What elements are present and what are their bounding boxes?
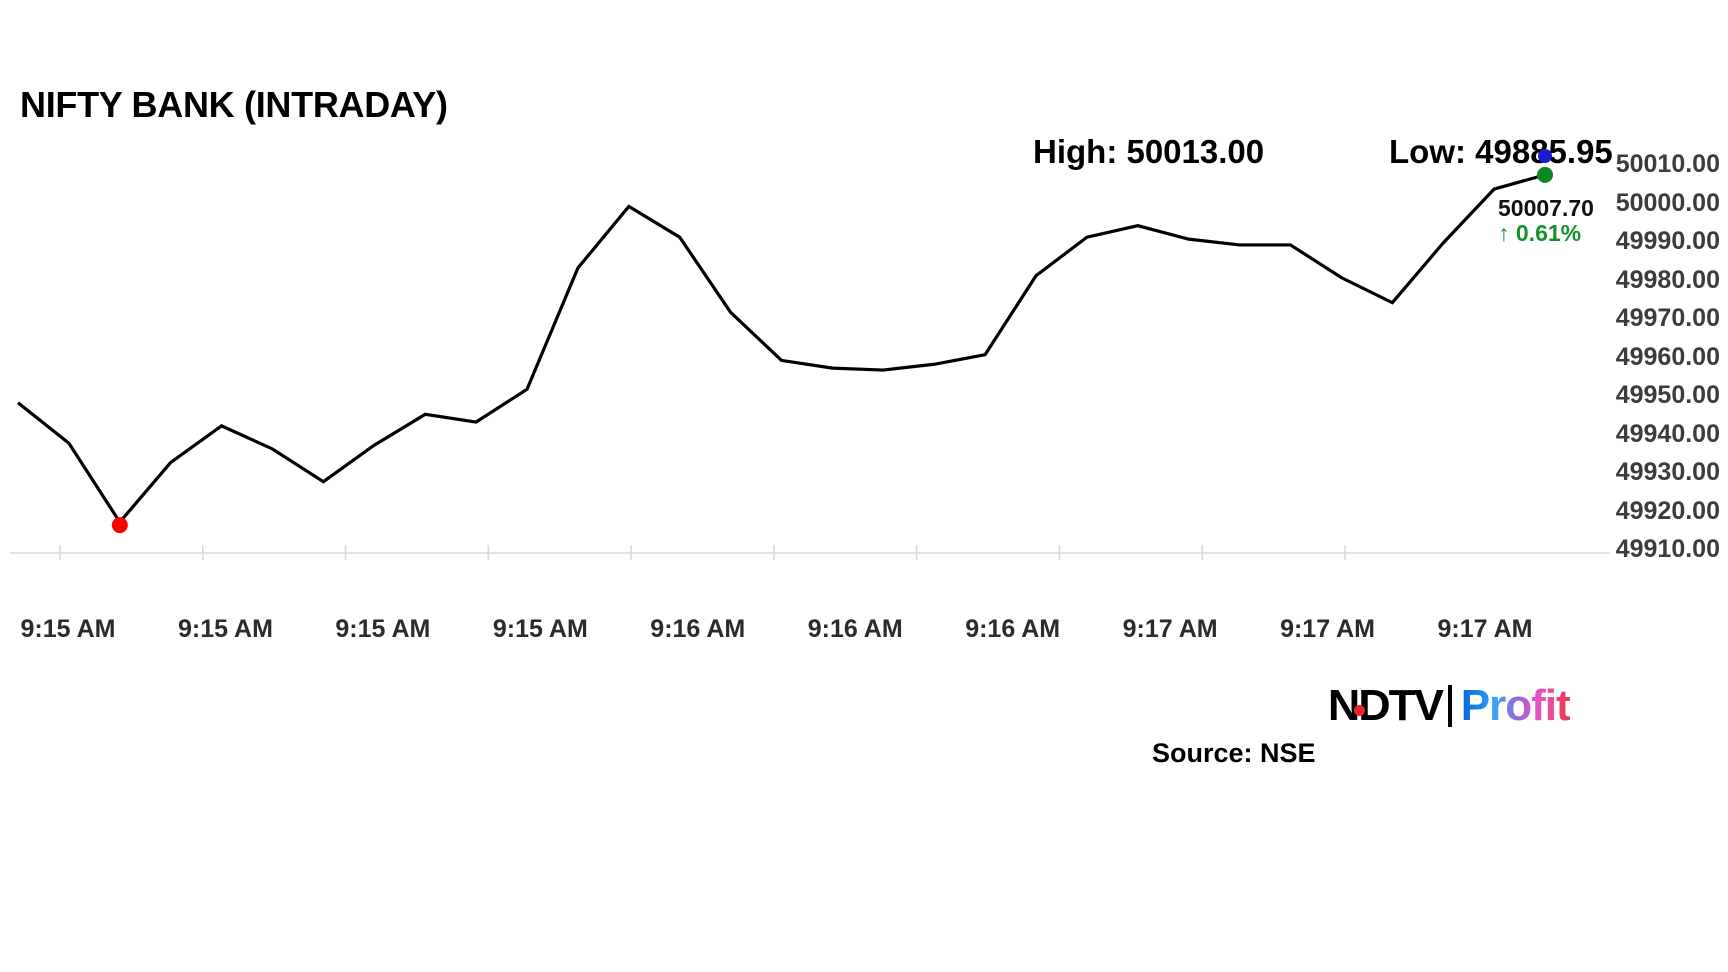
y-axis-tick: 50000.00 xyxy=(1616,189,1720,218)
logo-divider xyxy=(1448,685,1452,727)
y-axis-tick: 49930.00 xyxy=(1616,458,1720,487)
x-axis-tick: 9:17 AM xyxy=(1280,615,1375,644)
last-price-change: ↑ 0.61% xyxy=(1498,221,1594,246)
price-line xyxy=(18,175,1545,522)
x-axis-tick: 9:16 AM xyxy=(650,615,745,644)
chart-screenshot: NIFTY BANK (INTRADAY) High: 50013.00 Low… xyxy=(0,0,1728,972)
x-axis-tick: 9:16 AM xyxy=(808,615,903,644)
x-axis-tick: 9:15 AM xyxy=(493,615,588,644)
low-marker-dot xyxy=(112,517,128,533)
ndtv-profit-logo: NDTV Profit xyxy=(1329,683,1570,729)
ndtv-red-dot-icon xyxy=(1354,705,1365,716)
last-price-marker-dot xyxy=(1537,167,1553,183)
y-axis-tick: 49910.00 xyxy=(1616,535,1720,564)
price-chart xyxy=(0,0,1728,972)
last-price-value: 50007.70 xyxy=(1498,196,1594,220)
x-axis-tick: 9:15 AM xyxy=(21,615,116,644)
y-axis-tick: 49970.00 xyxy=(1616,304,1720,333)
y-axis-tick: 49980.00 xyxy=(1616,266,1720,295)
x-axis-tick: 9:15 AM xyxy=(335,615,430,644)
y-axis-tick: 50010.00 xyxy=(1616,150,1720,179)
high-marker-dot xyxy=(1538,149,1552,163)
x-axis-tick: 9:16 AM xyxy=(965,615,1060,644)
y-axis-tick: 49950.00 xyxy=(1616,381,1720,410)
source-label: Source: NSE xyxy=(1152,738,1316,769)
ndtv-wordmark: NDTV xyxy=(1328,684,1442,728)
x-axis-tick: 9:17 AM xyxy=(1438,615,1533,644)
y-axis-tick: 49990.00 xyxy=(1616,227,1720,256)
y-axis-tick: 49960.00 xyxy=(1616,343,1720,372)
profit-wordmark: Profit xyxy=(1461,684,1570,728)
y-axis-tick: 49940.00 xyxy=(1616,420,1720,449)
y-axis-tick: 49920.00 xyxy=(1616,497,1720,526)
x-axis-tick: 9:17 AM xyxy=(1123,615,1218,644)
last-price-callout: 50007.70 ↑ 0.61% xyxy=(1498,196,1594,246)
x-axis-tick: 9:15 AM xyxy=(178,615,273,644)
axis-baseline xyxy=(10,545,1610,560)
